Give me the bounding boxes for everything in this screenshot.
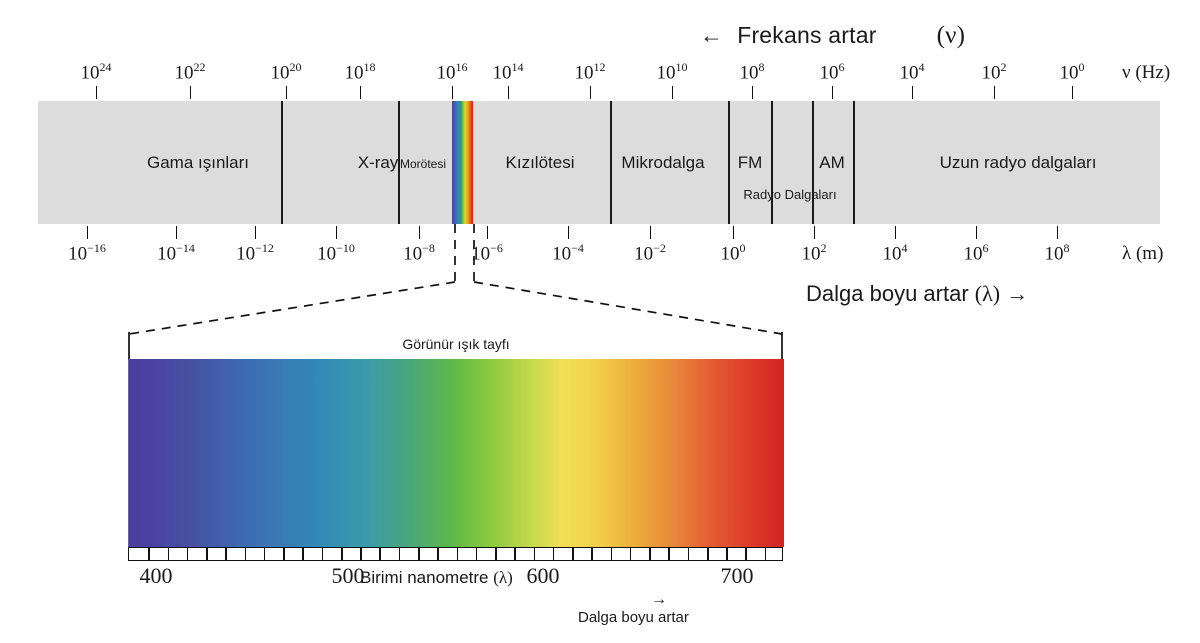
axis-tick-label: 1024 [81, 60, 112, 84]
axis-tick-mark [360, 86, 361, 99]
nm-tick-mark [572, 548, 574, 560]
band-divider [853, 101, 855, 224]
nm-tick-mark [322, 548, 324, 560]
nm-tick-mark [765, 548, 767, 560]
nm-tick-mark [707, 548, 709, 560]
frequency-axis-unit: ν (Hz) [1122, 62, 1170, 84]
axis-tick-mark [508, 86, 509, 99]
band-region-label: Mikrodalga [621, 153, 704, 173]
frequency-arrow-icon: ← [700, 22, 723, 48]
nm-tick-mark [553, 548, 555, 560]
nm-tick-mark [206, 548, 208, 560]
band-region-label: Gama ışınları [147, 153, 249, 173]
axis-tick-label: 108 [740, 60, 765, 84]
axis-tick-mark [752, 86, 753, 99]
axis-tick-mark [590, 86, 591, 99]
nm-tick-mark [399, 548, 401, 560]
nm-tick-mark [341, 548, 343, 560]
nm-tick-mark [245, 548, 247, 560]
axis-tick-label: 100 [1060, 60, 1085, 84]
visible-spectrum-gradient [128, 359, 784, 547]
axis-tick-mark [672, 86, 673, 99]
axis-tick-label: 106 [820, 60, 845, 84]
nm-tick-mark [302, 548, 304, 560]
axis-tick-label: 1022 [175, 60, 206, 84]
axis-tick-label: 1018 [345, 60, 376, 84]
axis-tick-mark [912, 86, 913, 99]
band-region-label: X-ray [358, 153, 399, 173]
unit-caption-text: Birimi nanometre [360, 568, 489, 587]
nm-tick-mark [726, 548, 728, 560]
axis-tick-mark [1072, 86, 1073, 99]
nm-tick-mark [418, 548, 420, 560]
axis-tick-mark [832, 86, 833, 99]
nm-tick-mark [534, 548, 536, 560]
band-region-label: FM [738, 153, 763, 173]
frequency-heading-text: Frekans artar [737, 22, 876, 48]
callout-left-diagonal [129, 282, 455, 334]
nm-tick-mark [148, 548, 150, 560]
unit-caption-symbol: (λ) [493, 568, 513, 587]
nm-tick-mark [379, 548, 381, 560]
visible-light-strip [452, 101, 473, 224]
nm-tick-mark [745, 548, 747, 560]
nm-tick-mark [611, 548, 613, 560]
axis-tick-mark [452, 86, 453, 99]
axis-tick-mark [286, 86, 287, 99]
axis-tick-label: 1010 [657, 60, 688, 84]
band-divider [610, 101, 612, 224]
axis-tick-label: 1012 [575, 60, 606, 84]
radio-waves-label: Radyo Dalgaları [743, 187, 836, 202]
band-region-label: Uzun radyo dalgaları [940, 153, 1097, 173]
nm-axis-label: 700 [721, 563, 754, 589]
callout-dashed-lines [0, 224, 1200, 364]
nm-tick-mark [495, 548, 497, 560]
grow-arrow-icon: → [651, 592, 667, 608]
grow-caption: Dalga boyu artar [578, 609, 689, 626]
nm-tick-mark [264, 548, 266, 560]
axis-tick-label: 1020 [271, 60, 302, 84]
nm-tick-mark [437, 548, 439, 560]
axis-tick-label: 102 [982, 60, 1007, 84]
nm-tick-mark [168, 548, 170, 560]
nm-axis-label: 400 [140, 563, 173, 589]
nm-tick-mark [457, 548, 459, 560]
axis-tick-label: 1016 [437, 60, 468, 84]
band-divider [728, 101, 730, 224]
axis-tick-mark [190, 86, 191, 99]
nm-axis-label: 600 [527, 563, 560, 589]
band-divider [812, 101, 814, 179]
axis-tick-label: 104 [900, 60, 925, 84]
nm-tick-mark [225, 548, 227, 560]
nm-tick-mark [649, 548, 651, 560]
nm-tick-mark [630, 548, 632, 560]
nm-tick-mark [688, 548, 690, 560]
nm-tick-mark [476, 548, 478, 560]
axis-tick-label: 1014 [493, 60, 524, 84]
unit-caption: Birimi nanometre (λ) [360, 568, 513, 588]
nm-tick-mark [283, 548, 285, 560]
visible-spectrum-title: Görünür ışık tayfı [402, 336, 509, 352]
nm-tick-mark [187, 548, 189, 560]
axis-tick-mark [96, 86, 97, 99]
nm-tick-mark [591, 548, 593, 560]
callout-right-diagonal [474, 282, 782, 334]
nm-tick-mark [360, 548, 362, 560]
nm-tick-mark [514, 548, 516, 560]
frequency-symbol: (ν) [937, 22, 966, 49]
band-divider [281, 101, 283, 224]
axis-tick-mark [994, 86, 995, 99]
band-region-label: Morötesi [400, 157, 446, 171]
nm-tick-mark [668, 548, 670, 560]
visible-spectrum-tick-row [128, 547, 783, 561]
band-divider [771, 101, 773, 179]
band-region-label: Kızılötesi [506, 153, 575, 173]
electromagnetic-spectrum-band: Gama ışınlarıX-rayMorötesiKızılötesiMikr… [38, 101, 1160, 224]
band-region-label: AM [819, 153, 845, 173]
frequency-heading: ←Frekans artar(ν) [700, 22, 1060, 50]
